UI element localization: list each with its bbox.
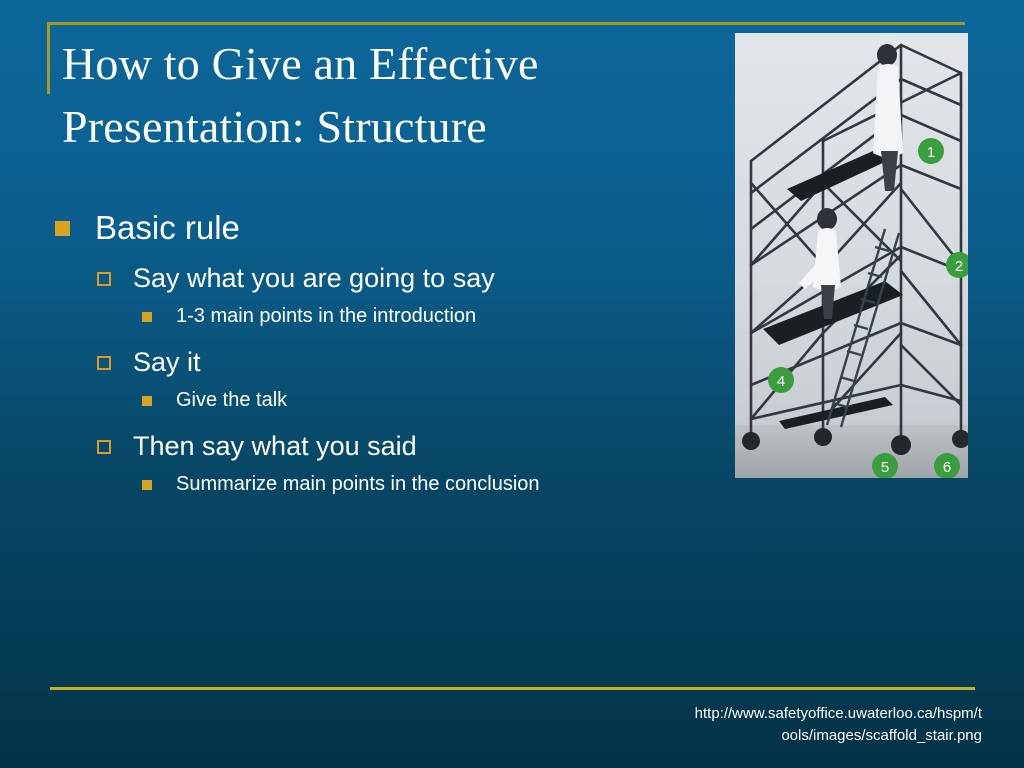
list-item-label: Say what you are going to say xyxy=(133,258,495,298)
callout-marker-1: 1 xyxy=(918,138,944,164)
small-filled-square-bullet-icon xyxy=(142,396,152,406)
list-item: Then say what you said xyxy=(97,426,715,466)
source-line-2: ools/images/scaffold_stair.png xyxy=(600,725,982,747)
hollow-square-bullet-icon xyxy=(97,356,111,370)
list-item: Give the talk xyxy=(142,384,715,416)
list-item: Summarize main points in the conclusion xyxy=(142,468,715,500)
top-gold-rule xyxy=(47,22,965,25)
bullet-list: Basic rule Say what you are going to say… xyxy=(55,205,715,510)
list-item: 1-3 main points in the introduction xyxy=(142,300,715,332)
source-caption: http://www.safetyoffice.uwaterloo.ca/hsp… xyxy=(600,703,982,747)
svg-text:1: 1 xyxy=(927,144,935,161)
list-item: Say what you are going to say xyxy=(97,258,715,298)
callout-marker-4: 4 xyxy=(768,367,794,393)
callout-marker-5: 5 xyxy=(872,453,898,478)
list-item: Say it xyxy=(97,342,715,382)
title-line-1: How to Give an Effective xyxy=(62,32,702,95)
list-item-label: Summarize main points in the conclusion xyxy=(176,468,540,500)
filled-square-bullet-icon xyxy=(55,221,70,236)
page-title: How to Give an Effective Presentation: S… xyxy=(62,32,702,159)
list-item-label: Basic rule xyxy=(95,205,240,251)
callout-marker-6: 6 xyxy=(934,453,960,478)
list-item-label: Then say what you said xyxy=(133,426,417,466)
corner-bracket-decoration xyxy=(47,22,50,94)
hollow-square-bullet-icon xyxy=(97,440,111,454)
list-item: Basic rule xyxy=(55,205,715,251)
scaffold-photo: 1 2 4 5 6 xyxy=(735,33,968,478)
svg-text:2: 2 xyxy=(955,258,963,275)
list-item-label: Give the talk xyxy=(176,384,287,416)
title-line-2: Presentation: Structure xyxy=(62,95,702,158)
scaffold-illustration: 1 2 4 5 6 xyxy=(735,33,968,478)
svg-text:5: 5 xyxy=(881,459,889,476)
svg-text:4: 4 xyxy=(777,373,785,390)
bottom-gold-rule xyxy=(50,687,975,690)
hollow-square-bullet-icon xyxy=(97,272,111,286)
source-line-1: http://www.safetyoffice.uwaterloo.ca/hsp… xyxy=(600,703,982,725)
small-filled-square-bullet-icon xyxy=(142,312,152,322)
list-item-label: Say it xyxy=(133,342,201,382)
presentation-slide: How to Give an Effective Presentation: S… xyxy=(0,0,1024,768)
svg-text:6: 6 xyxy=(943,459,951,476)
small-filled-square-bullet-icon xyxy=(142,480,152,490)
list-item-label: 1-3 main points in the introduction xyxy=(176,300,476,332)
